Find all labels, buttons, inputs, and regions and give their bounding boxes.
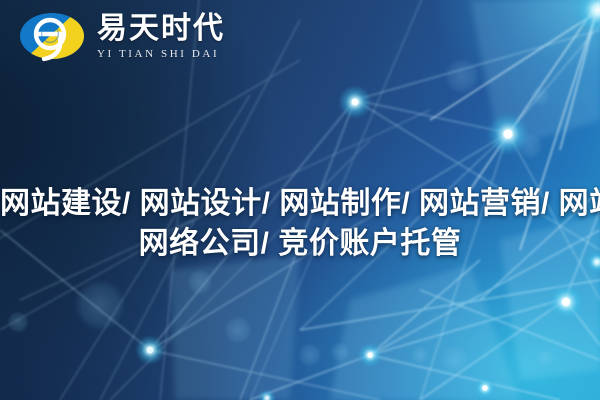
brand-wordmark: 易天时代 YI TIAN SHI DAI: [97, 14, 225, 60]
promo-banner: 易天时代 YI TIAN SHI DAI 网站建设/ 网站设计/ 网站制作/ 网…: [0, 0, 600, 400]
brand-logo[interactable]: 易天时代 YI TIAN SHI DAI: [16, 8, 225, 66]
headline-line-2: 网络公司/ 竞价账户托管: [0, 224, 600, 264]
headline-line-1: 网站建设/ 网站设计/ 网站制作/ 网站营销/ 网站优化: [0, 184, 600, 224]
brand-name-cn: 易天时代: [97, 14, 225, 44]
e-swoosh-ellipse-logo-icon: [16, 8, 88, 66]
headline-block: 网站建设/ 网站设计/ 网站制作/ 网站营销/ 网站优化 网络公司/ 竞价账户托…: [0, 184, 600, 264]
brand-name-en: YI TIAN SHI DAI: [97, 49, 219, 60]
